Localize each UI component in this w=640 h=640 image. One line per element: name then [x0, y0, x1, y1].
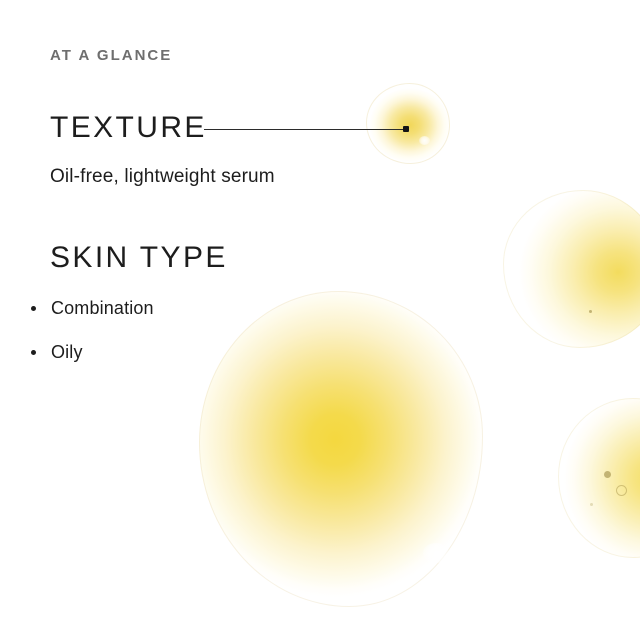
section-heading-skin-type: SKIN TYPE	[50, 243, 228, 273]
list-item: Combination	[31, 298, 154, 319]
section-heading-texture: TEXTURE	[50, 113, 207, 143]
bullet-icon	[31, 306, 36, 311]
list-item: Oily	[31, 342, 154, 363]
product-at-a-glance-graphic: AT A GLANCE TEXTURE Oil-free, lightweigh…	[0, 0, 640, 640]
list-item-label: Oily	[51, 342, 83, 362]
text-content: AT A GLANCE TEXTURE Oil-free, lightweigh…	[0, 0, 640, 640]
skin-type-list: Combination Oily	[31, 298, 154, 386]
list-item-label: Combination	[51, 298, 154, 318]
bullet-icon	[31, 350, 36, 355]
eyebrow-label: AT A GLANCE	[50, 47, 172, 64]
texture-description: Oil-free, lightweight serum	[50, 166, 275, 188]
